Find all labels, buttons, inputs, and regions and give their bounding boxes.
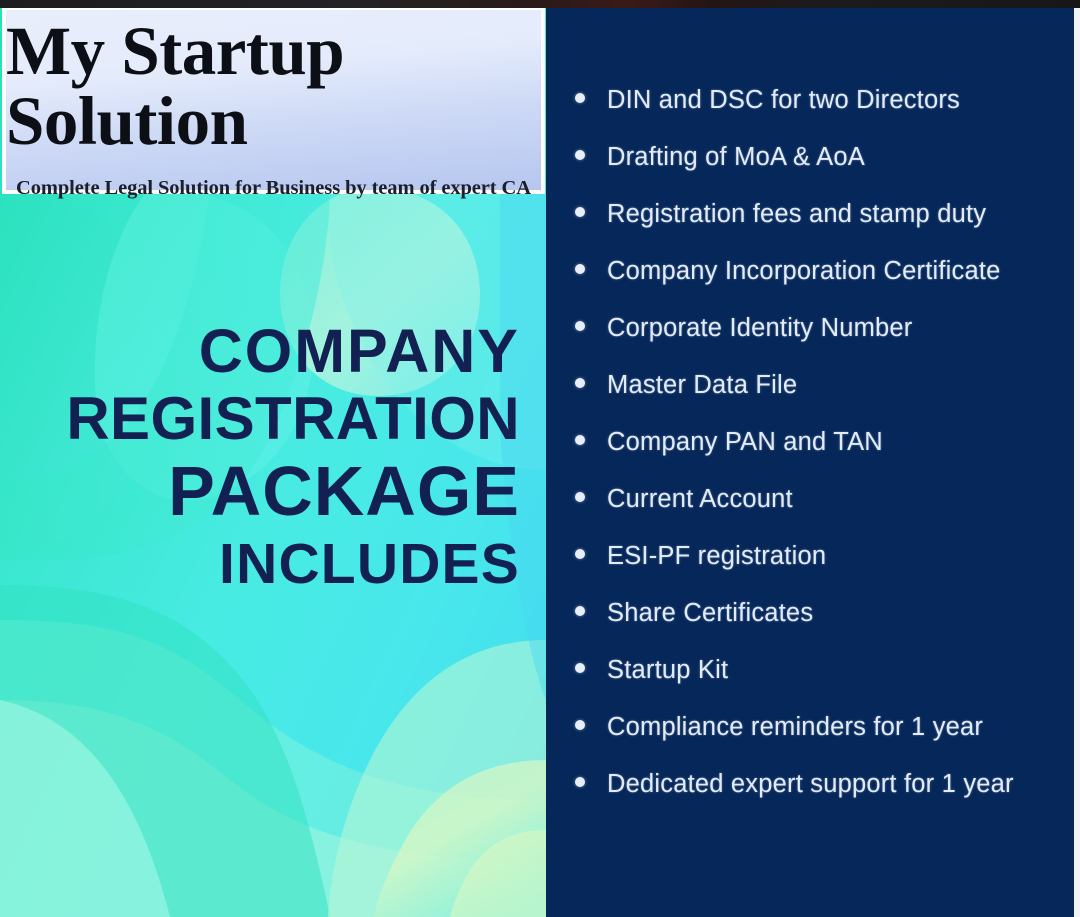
brand-tagline: Complete Legal Solution for Business by … bbox=[16, 177, 531, 200]
bullet-dot-icon bbox=[575, 207, 585, 217]
package-items-list: DIN and DSC for two Directors Drafting o… bbox=[575, 86, 1068, 827]
list-item-label: Corporate Identity Number bbox=[607, 314, 912, 343]
list-item-label: Drafting of MoA & AoA bbox=[607, 143, 865, 172]
list-item: ESI-PF registration bbox=[575, 542, 1068, 599]
list-item-label: Registration fees and stamp duty bbox=[607, 200, 986, 229]
list-item: Corporate Identity Number bbox=[575, 314, 1068, 371]
bullet-dot-icon bbox=[575, 378, 585, 388]
heading-line-3: PACKAGE bbox=[0, 457, 520, 526]
heading-line-2: REGISTRATION bbox=[0, 390, 520, 449]
list-item-label: Company PAN and TAN bbox=[607, 428, 883, 457]
list-item-label: ESI-PF registration bbox=[607, 542, 826, 571]
bullet-dot-icon bbox=[575, 150, 585, 160]
list-item: Drafting of MoA & AoA bbox=[575, 143, 1068, 200]
list-item-label: Dedicated expert support for 1 year bbox=[607, 770, 1014, 799]
bullet-dot-icon bbox=[575, 264, 585, 274]
bullet-dot-icon bbox=[575, 663, 585, 673]
brand-logo-inner: My Startup Solution Complete Legal Solut… bbox=[6, 10, 541, 190]
list-item: Dedicated expert support for 1 year bbox=[575, 770, 1068, 827]
list-item-label: Compliance reminders for 1 year bbox=[607, 713, 983, 742]
top-dark-strip bbox=[0, 0, 1080, 8]
list-item: Registration fees and stamp duty bbox=[575, 200, 1068, 257]
list-item: Current Account bbox=[575, 485, 1068, 542]
list-item: Master Data File bbox=[575, 371, 1068, 428]
right-navy-panel: DIN and DSC for two Directors Drafting o… bbox=[545, 0, 1074, 917]
right-edge-strip bbox=[1074, 0, 1080, 917]
list-item-label: Startup Kit bbox=[607, 656, 728, 685]
package-heading: COMPANY REGISTRATION PACKAGE INCLUDES bbox=[0, 322, 520, 593]
promotional-poster: COMPANY REGISTRATION PACKAGE INCLUDES My… bbox=[0, 0, 1080, 917]
bullet-dot-icon bbox=[575, 720, 585, 730]
heading-line-4: INCLUDES bbox=[0, 537, 520, 593]
list-item: Startup Kit bbox=[575, 656, 1068, 713]
list-item: Company PAN and TAN bbox=[575, 428, 1068, 485]
list-item: Compliance reminders for 1 year bbox=[575, 713, 1068, 770]
brand-name: My Startup Solution bbox=[6, 16, 541, 157]
bullet-dot-icon bbox=[575, 93, 585, 103]
brand-logo-card: My Startup Solution Complete Legal Solut… bbox=[2, 6, 545, 194]
list-item-label: Company Incorporation Certificate bbox=[607, 257, 1001, 286]
bullet-dot-icon bbox=[575, 492, 585, 502]
bullet-dot-icon bbox=[575, 549, 585, 559]
list-item: Share Certificates bbox=[575, 599, 1068, 656]
list-item-label: Master Data File bbox=[607, 371, 797, 400]
list-item: DIN and DSC for two Directors bbox=[575, 86, 1068, 143]
heading-line-1: COMPANY bbox=[0, 322, 520, 382]
list-item-label: DIN and DSC for two Directors bbox=[607, 86, 960, 115]
list-item-label: Share Certificates bbox=[607, 599, 813, 628]
bullet-dot-icon bbox=[575, 777, 585, 787]
bullet-dot-icon bbox=[575, 435, 585, 445]
list-item-label: Current Account bbox=[607, 485, 793, 514]
bullet-dot-icon bbox=[575, 321, 585, 331]
list-item: Company Incorporation Certificate bbox=[575, 257, 1068, 314]
bullet-dot-icon bbox=[575, 606, 585, 616]
